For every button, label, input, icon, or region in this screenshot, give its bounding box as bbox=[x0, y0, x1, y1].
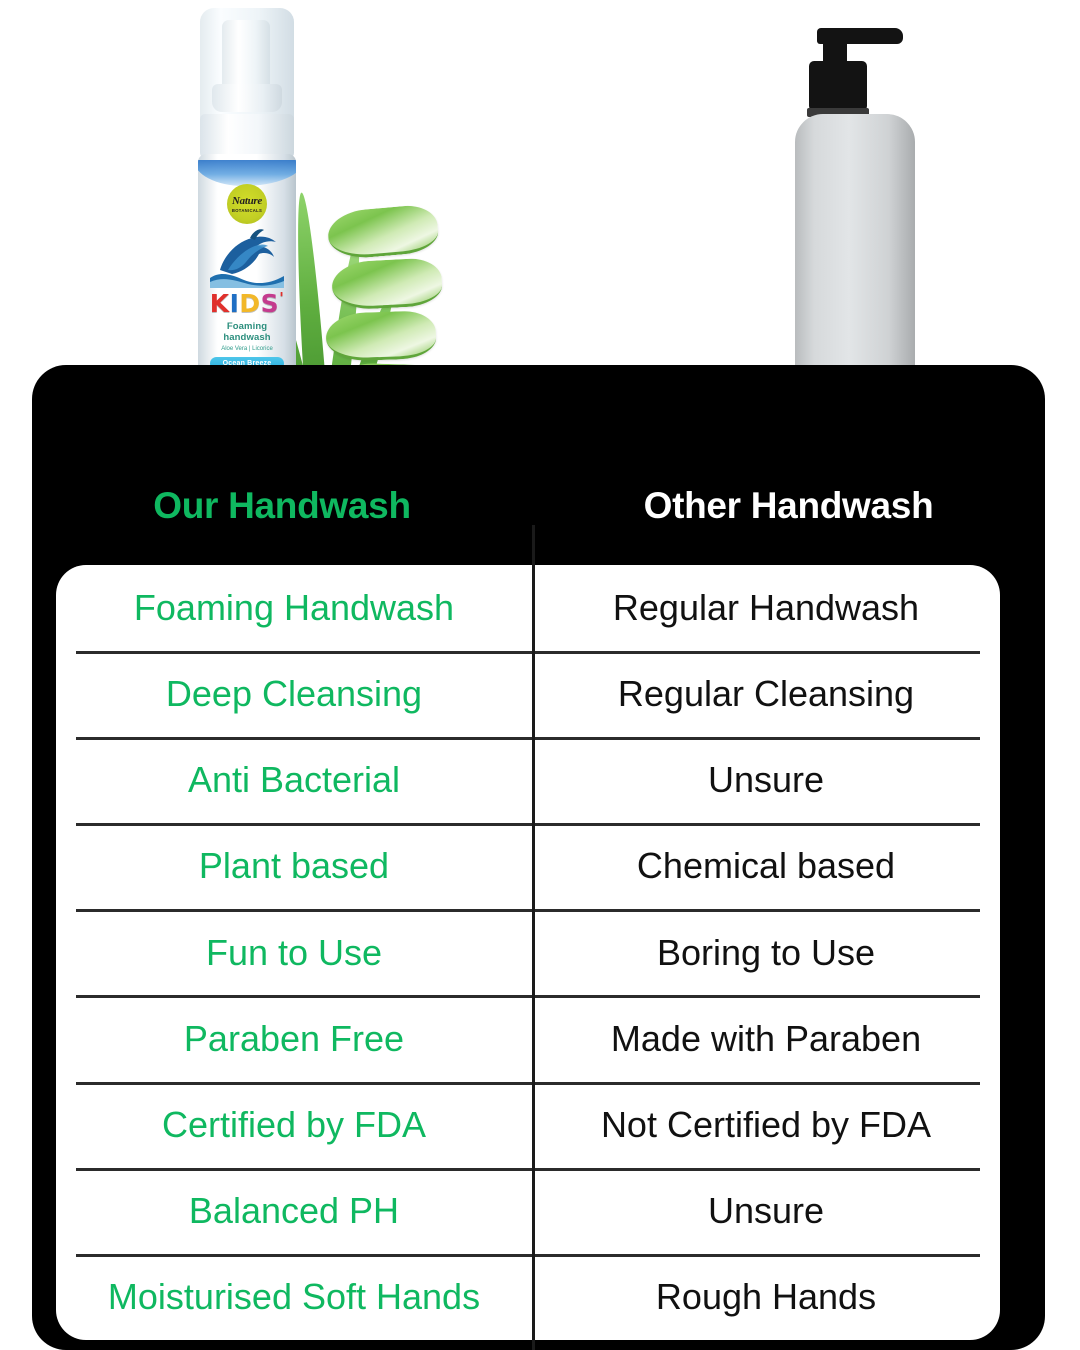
kids-apostrophe: ' bbox=[279, 289, 284, 307]
table-row: Foaming HandwashRegular Handwash bbox=[56, 565, 1000, 651]
cell-other-feature: Not Certified by FDA bbox=[532, 1106, 1000, 1144]
table-body: Foaming HandwashRegular HandwashDeep Cle… bbox=[56, 565, 1000, 1340]
kids-letter-d: D bbox=[239, 289, 260, 318]
brand-logo-icon: Nature BOTANICALS bbox=[227, 184, 267, 224]
column-divider bbox=[532, 525, 535, 1350]
table-row: Paraben FreeMade with Paraben bbox=[56, 995, 1000, 1081]
column-headers: Our Handwash Other Handwash bbox=[32, 485, 1045, 527]
bottle-label: Nature BOTANICALS bbox=[198, 184, 296, 391]
cell-our-feature: Balanced PH bbox=[56, 1192, 532, 1230]
header-other-handwash: Other Handwash bbox=[532, 485, 1045, 527]
table-row: Deep CleansingRegular Cleansing bbox=[56, 651, 1000, 737]
cell-other-feature: Unsure bbox=[532, 1192, 1000, 1230]
bottle-plunger bbox=[222, 20, 270, 94]
kids-letter-k: K bbox=[210, 289, 230, 318]
comparison-table: Foaming HandwashRegular HandwashDeep Cle… bbox=[56, 565, 1000, 1340]
cell-other-feature: Rough Hands bbox=[532, 1278, 1000, 1316]
table-row: Plant basedChemical based bbox=[56, 823, 1000, 909]
cell-our-feature: Deep Cleansing bbox=[56, 675, 532, 713]
brand-subtitle: BOTANICALS bbox=[227, 208, 267, 213]
pump-head bbox=[809, 61, 867, 111]
cell-our-feature: Certified by FDA bbox=[56, 1106, 532, 1144]
table-row: Balanced PHUnsure bbox=[56, 1168, 1000, 1254]
header-our-handwash: Our Handwash bbox=[32, 485, 532, 527]
kids-wordmark: KIDS' bbox=[204, 289, 290, 318]
cell-our-feature: Anti Bacterial bbox=[56, 761, 532, 799]
comparison-infographic: Nature BOTANICALS bbox=[0, 0, 1080, 1350]
bottle-collar bbox=[200, 114, 294, 158]
cell-other-feature: Made with Paraben bbox=[532, 1020, 1000, 1058]
cell-other-feature: Regular Cleansing bbox=[532, 675, 1000, 713]
table-row: Anti BacterialUnsure bbox=[56, 737, 1000, 823]
kids-letter-i: I bbox=[230, 289, 240, 318]
cell-our-feature: Plant based bbox=[56, 847, 532, 885]
table-row: Certified by FDANot Certified by FDA bbox=[56, 1082, 1000, 1168]
bottle-nozzle bbox=[212, 84, 282, 112]
product-type-label: Foaming handwash bbox=[204, 321, 290, 343]
table-row: Fun to UseBoring to Use bbox=[56, 909, 1000, 995]
dolphin-icon bbox=[210, 226, 284, 288]
cell-our-feature: Paraben Free bbox=[56, 1020, 532, 1058]
cell-other-feature: Chemical based bbox=[532, 847, 1000, 885]
table-row: Moisturised Soft HandsRough Hands bbox=[56, 1254, 1000, 1340]
kids-letter-s: S bbox=[261, 289, 280, 318]
cell-our-feature: Foaming Handwash bbox=[56, 589, 532, 627]
brand-name: Nature bbox=[227, 195, 267, 207]
cell-our-feature: Fun to Use bbox=[56, 934, 532, 972]
cell-our-feature: Moisturised Soft Hands bbox=[56, 1278, 532, 1316]
cell-other-feature: Boring to Use bbox=[532, 934, 1000, 972]
ingredients-label: Aloe Vera | Licorice bbox=[204, 346, 290, 352]
cell-other-feature: Regular Handwash bbox=[532, 589, 1000, 627]
wave-graphic bbox=[198, 160, 296, 186]
cell-other-feature: Unsure bbox=[532, 761, 1000, 799]
